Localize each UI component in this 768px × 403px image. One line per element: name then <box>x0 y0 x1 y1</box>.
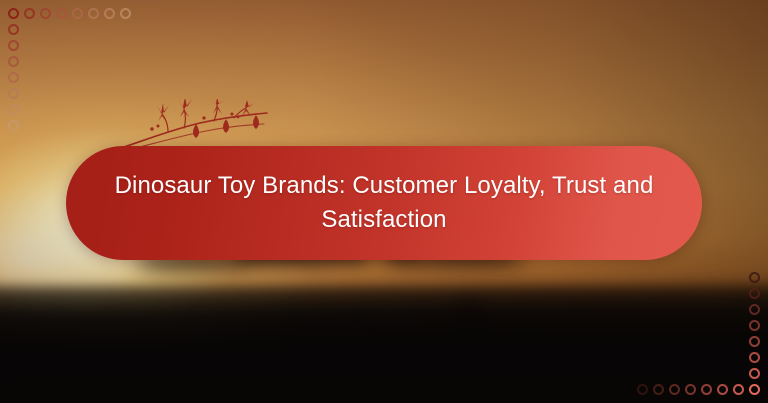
decorative-ring-dot <box>749 304 760 315</box>
decorative-ring-dot <box>685 384 696 395</box>
title-pill: Dinosaur Toy Brands: Customer Loyalty, T… <box>66 146 702 260</box>
decorative-ring-dot <box>8 40 19 51</box>
decorative-ring-dot <box>653 384 664 395</box>
decorative-ring-dot <box>733 384 744 395</box>
decorative-ring-dot <box>72 8 83 19</box>
decorative-ring-dot <box>701 384 712 395</box>
decorative-ring-dot <box>120 8 131 19</box>
decorative-ring-dot <box>8 120 19 131</box>
decorative-ring-dot <box>749 384 760 395</box>
featured-image-banner: Dinosaur Toy Brands: Customer Loyalty, T… <box>0 0 768 403</box>
decorative-ring-dot <box>8 72 19 83</box>
decorative-ring-dot <box>24 8 35 19</box>
decorative-ring-dot <box>56 8 67 19</box>
decorative-ring-dot <box>717 384 728 395</box>
decorative-ring-dot <box>749 272 760 283</box>
decorative-ring-dot <box>8 24 19 35</box>
foreground-ground-band <box>0 286 768 403</box>
decorative-ring-dot <box>749 288 760 299</box>
decorative-ring-dot <box>637 384 648 395</box>
decorative-ring-dot <box>669 384 680 395</box>
page-title: Dinosaur Toy Brands: Customer Loyalty, T… <box>70 169 698 237</box>
decorative-ring-dot <box>749 320 760 331</box>
decorative-ring-dot <box>8 104 19 115</box>
decorative-ring-dot <box>749 336 760 347</box>
decorative-ring-dot <box>749 368 760 379</box>
decorative-ring-dot <box>88 8 99 19</box>
decorative-ring-dot <box>40 8 51 19</box>
decorative-ring-dot <box>749 352 760 363</box>
decorative-ring-dot <box>104 8 115 19</box>
decorative-ring-dot <box>8 56 19 67</box>
decorative-ring-dot <box>8 88 19 99</box>
decorative-ring-dot <box>8 8 19 19</box>
